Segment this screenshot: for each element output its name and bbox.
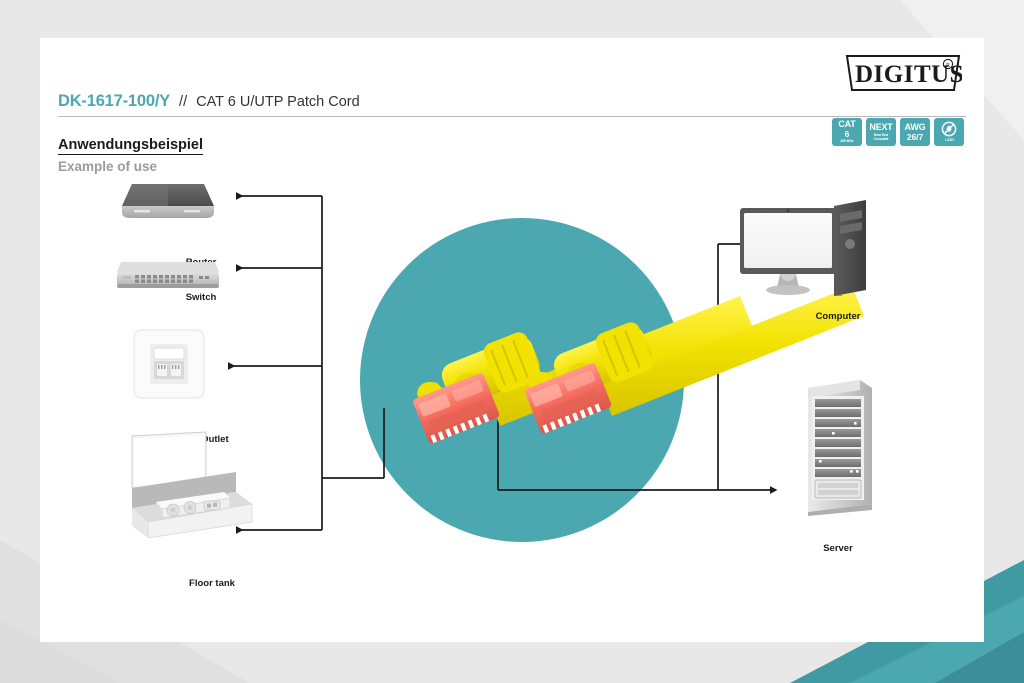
server-label: Server <box>823 543 853 554</box>
switch-label: Switch <box>186 292 217 303</box>
floor-tank-label: Floor tank <box>189 578 235 589</box>
computer-label: Computer <box>816 311 861 322</box>
datasheet-card: DIGITUS R DK-1617-100/Y // CAT 6 U/UTP P… <box>40 38 984 642</box>
application-diagram: Router <box>40 38 984 642</box>
